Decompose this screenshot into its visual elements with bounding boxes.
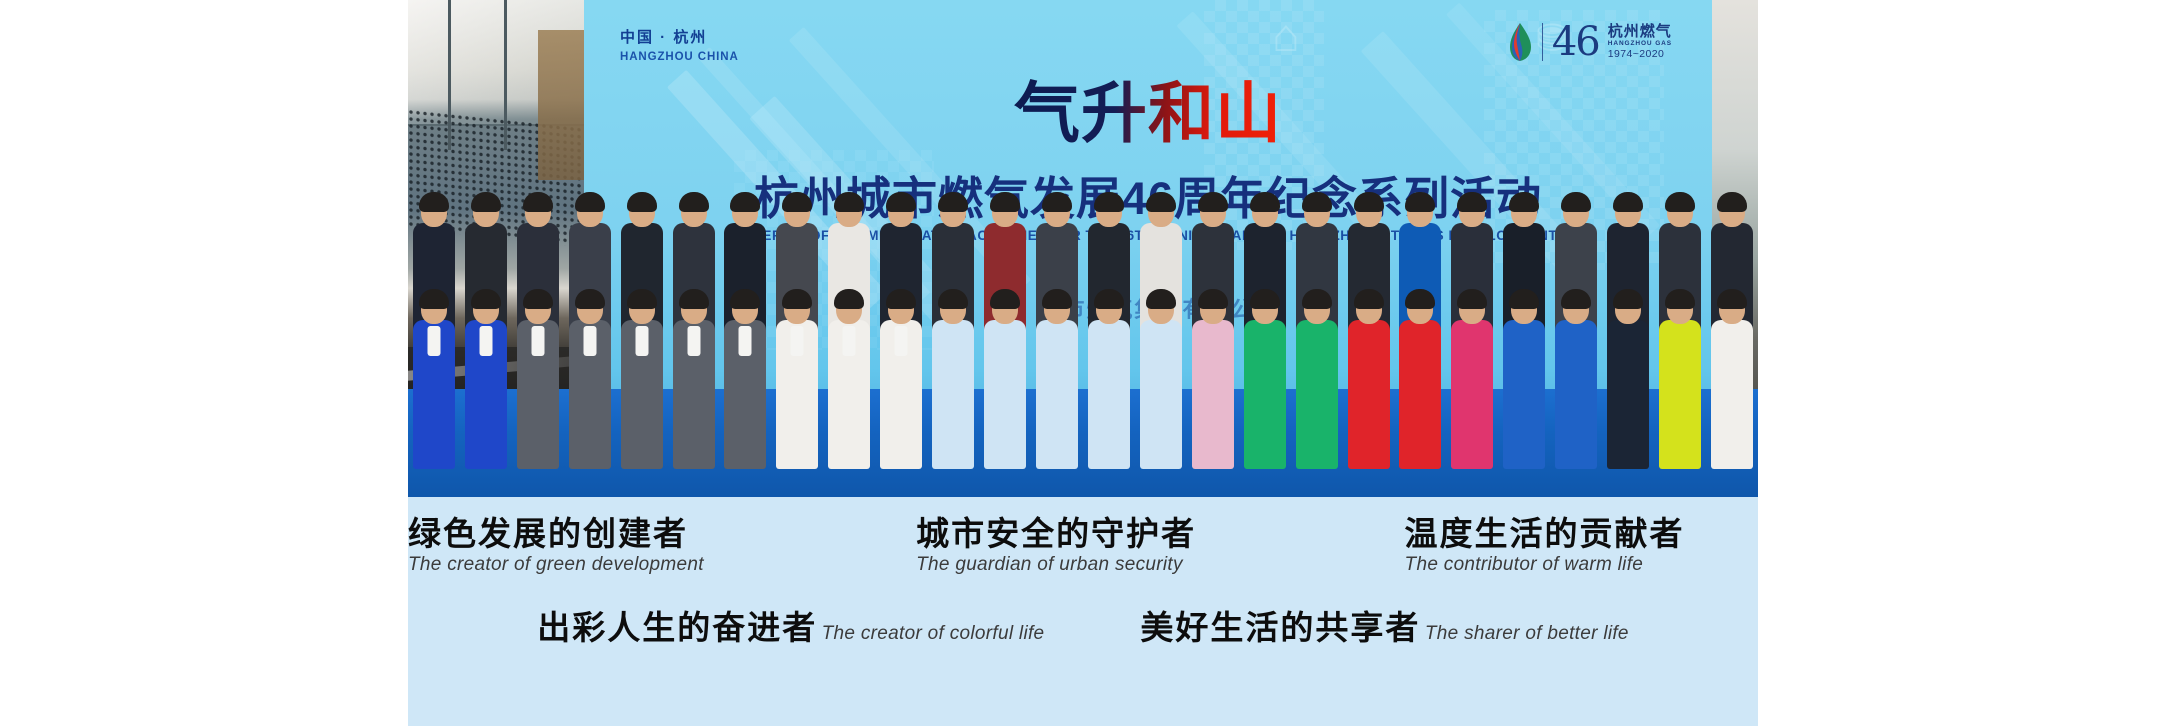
caption-en: The creator of colorful life [822,623,1045,644]
group-of-people [408,197,1758,497]
caption-urban-security: 城市安全的守护者 The guardian of urban security [916,515,1288,576]
flame-logo-icon [1508,22,1533,62]
caption-green-development: 绿色发展的创建者 The creator of green developmen… [408,515,800,576]
caption-en: The guardian of urban security [916,554,1183,575]
house-icon: ⌂ [1272,12,1300,58]
caption-colorful-life: 出彩人生的奋进者 The creator of colorful life [537,609,1044,648]
article-content-block: ⌂ ⛃ 中国 · 杭州 HANGZHOU CHINA [408,0,1758,726]
railing-post [504,0,507,150]
caption-panel: 绿色发展的创建者 The creator of green developmen… [408,497,1758,726]
railing-post [448,0,451,150]
caption-cn: 绿色发展的创建者 [408,514,688,553]
company-name-en: HANGZHOU GAS [1608,40,1672,47]
anniversary-number: 46 [1552,23,1599,61]
lockup-text: 杭州燃气 HANGZHOU GAS 1974~2020 [1608,24,1672,61]
backdrop-locale: 中国 · 杭州 HANGZHOU CHINA [620,26,739,63]
page-root: ⌂ ⛃ 中国 · 杭州 HANGZHOU CHINA [0,0,2179,726]
caption-cn: 温度生活的贡献者 [1405,514,1685,553]
company-name-cn: 杭州燃气 [1608,24,1672,41]
caption-better-life: 美好生活的共享者 The sharer of better life [1140,609,1628,648]
caption-en: The contributor of warm life [1405,554,1644,575]
caption-row-2: 出彩人生的奋进者 The creator of colorful life 美好… [408,609,1758,648]
event-logotype: 气升和山 [1014,60,1282,156]
locale-en: HANGZHOU CHINA [620,51,739,63]
locale-cn: 中国 · 杭州 [620,26,739,47]
caption-cn: 美好生活的共享者 [1140,608,1420,647]
caption-row-1: 绿色发展的创建者 The creator of green developmen… [408,515,1758,576]
caption-cn: 城市安全的守护者 [916,514,1196,553]
group-photo: ⌂ ⛃ 中国 · 杭州 HANGZHOU CHINA [408,0,1758,497]
wooden-door [538,30,584,180]
caption-cn: 出彩人生的奋进者 [537,608,817,647]
lockup-divider [1542,23,1543,61]
corporate-lockup: 46 杭州燃气 HANGZHOU GAS 1974~2020 [1508,22,1672,62]
anniversary-years: 1974~2020 [1608,49,1672,61]
caption-en: The sharer of better life [1425,623,1629,644]
caption-warm-life: 温度生活的贡献者 The contributor of warm life [1405,515,1758,576]
caption-en: The creator of green development [408,554,704,575]
